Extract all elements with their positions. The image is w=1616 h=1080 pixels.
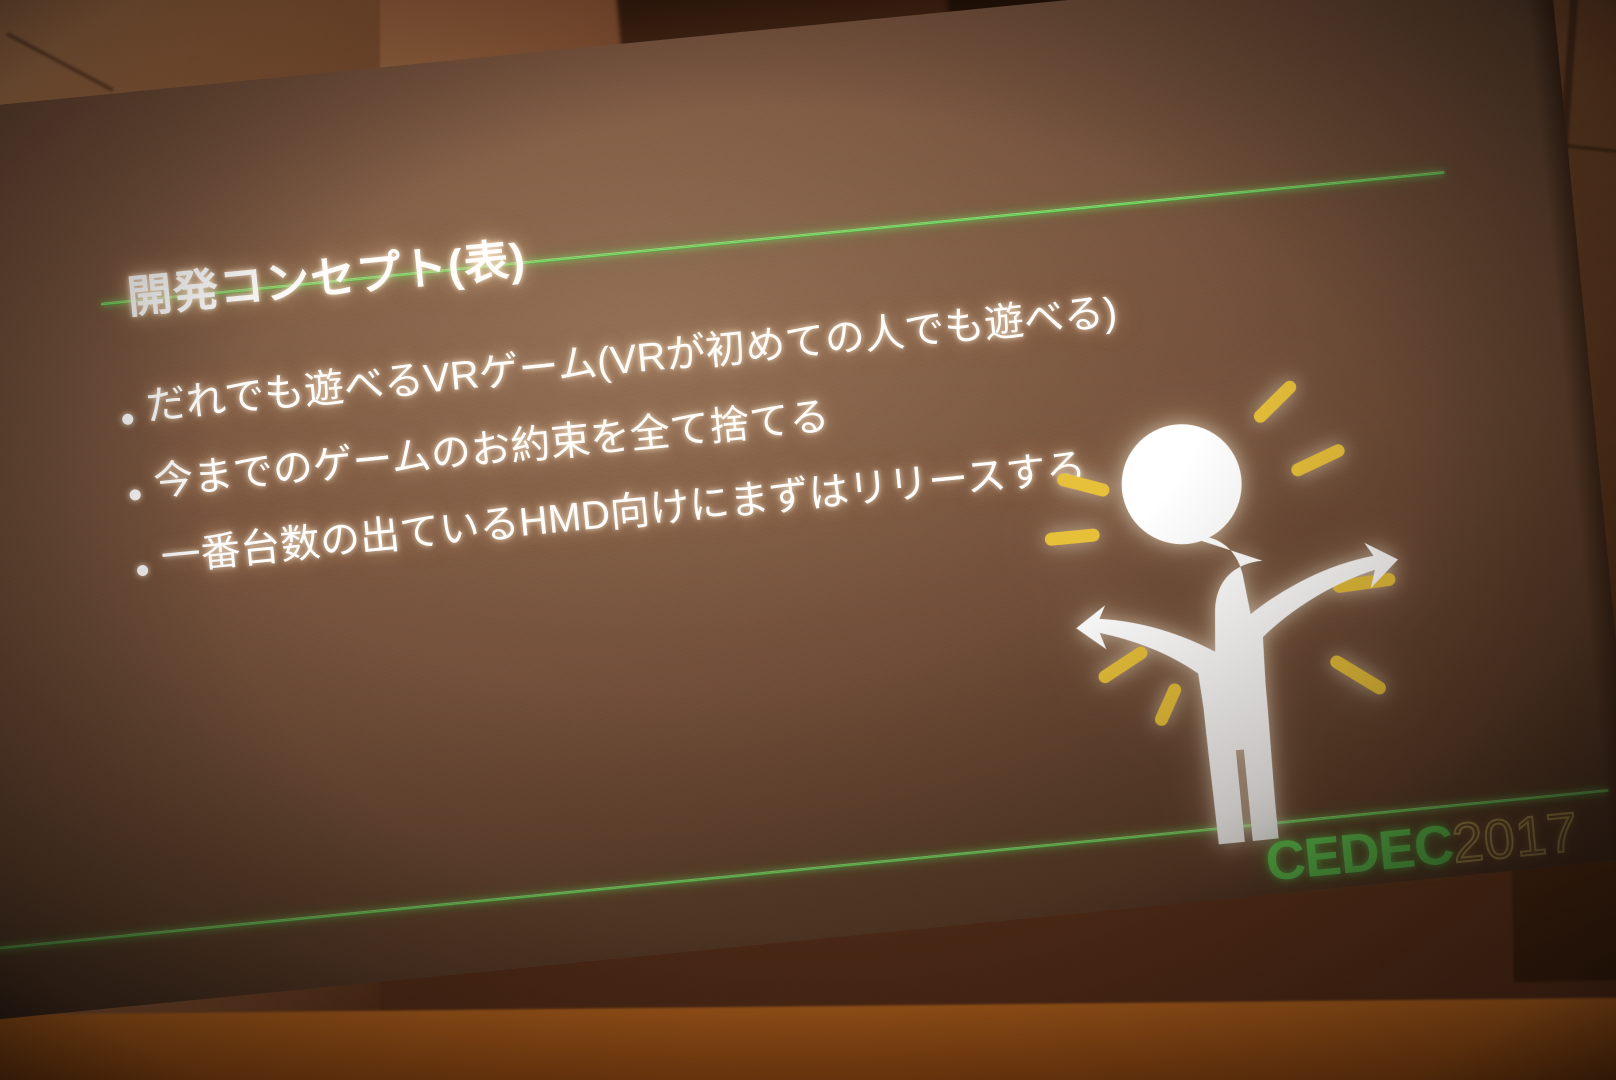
presentation-photo: 開発コンセプト(表) だれでも遊べるVRゲーム(VRが初めての人でも遊べる) 今… [0,0,1616,1080]
screen-vignette [0,0,1616,1023]
projection-screen: 開発コンセプト(表) だれでも遊べるVRゲーム(VRが初めての人でも遊べる) 今… [0,0,1616,1023]
